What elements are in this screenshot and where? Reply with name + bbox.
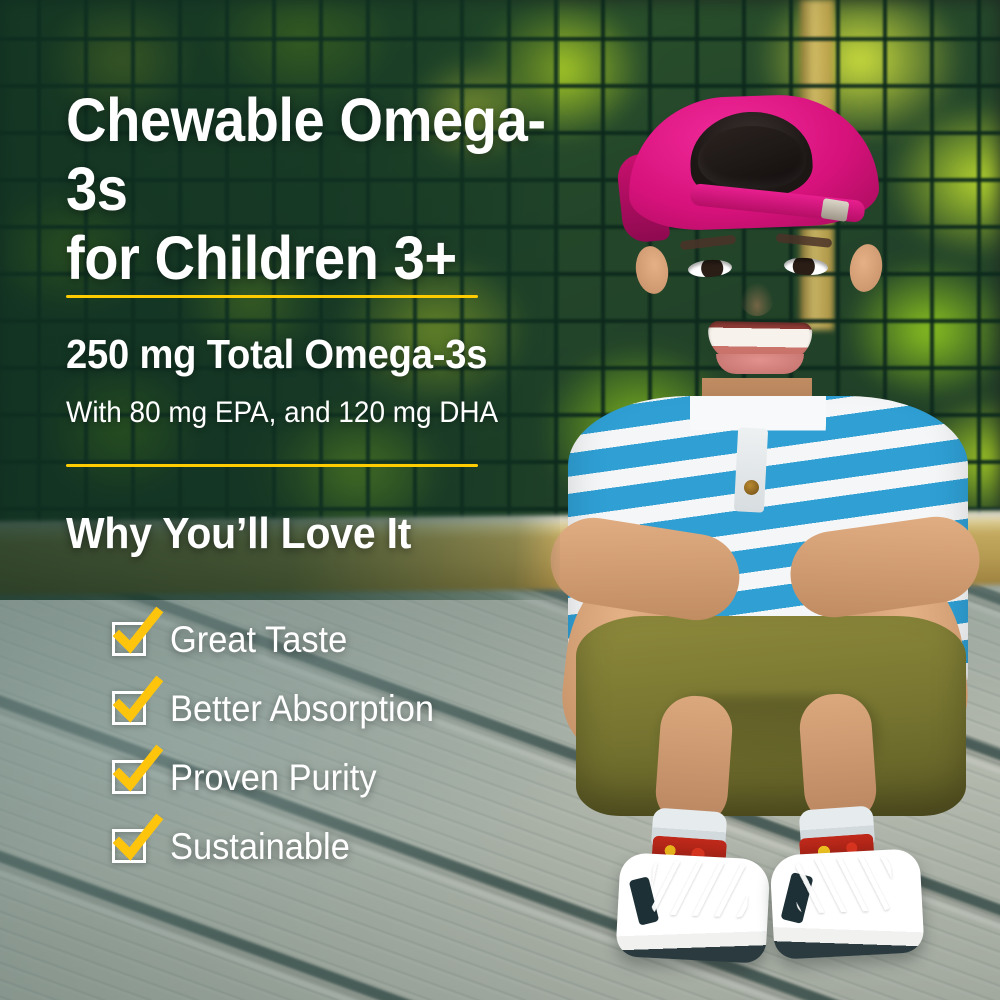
list-item: Proven Purity [112,746,454,808]
checkbox-checked-icon [112,622,146,656]
benefits-list: Great Taste Better Absorption [112,608,454,884]
list-item-label: Proven Purity [170,759,377,796]
list-item-label: Better Absorption [170,690,434,727]
divider-rule-bottom [66,464,478,467]
headline-line-2: for Children 3+ [66,224,563,293]
list-item: Great Taste [112,608,454,670]
headline: Chewable Omega-3s for Children 3+ [66,86,563,293]
list-item-label: Sustainable [170,828,350,865]
dose-amount: 250 mg Total Omega-3s [66,332,550,377]
text-overlay: Chewable Omega-3s for Children 3+ 250 mg… [0,0,1000,1000]
benefits-heading: Why You’ll Love It [66,510,550,558]
dose-breakdown: With 80 mg EPA, and 120 mg DHA [66,396,587,431]
checkmark-icon [113,818,161,864]
checkmark-icon [113,749,161,795]
checkbox-checked-icon [112,829,146,863]
list-item: Sustainable [112,815,454,877]
list-item: Better Absorption [112,677,454,739]
divider-rule-top [66,295,478,298]
list-item-label: Great Taste [170,621,347,658]
headline-line-1: Chewable Omega-3s [66,86,563,224]
checkmark-icon [113,680,161,726]
checkbox-checked-icon [112,691,146,725]
checkbox-checked-icon [112,760,146,794]
checkmark-icon [113,611,161,657]
product-marketing-banner: Chewable Omega-3s for Children 3+ 250 mg… [0,0,1000,1000]
